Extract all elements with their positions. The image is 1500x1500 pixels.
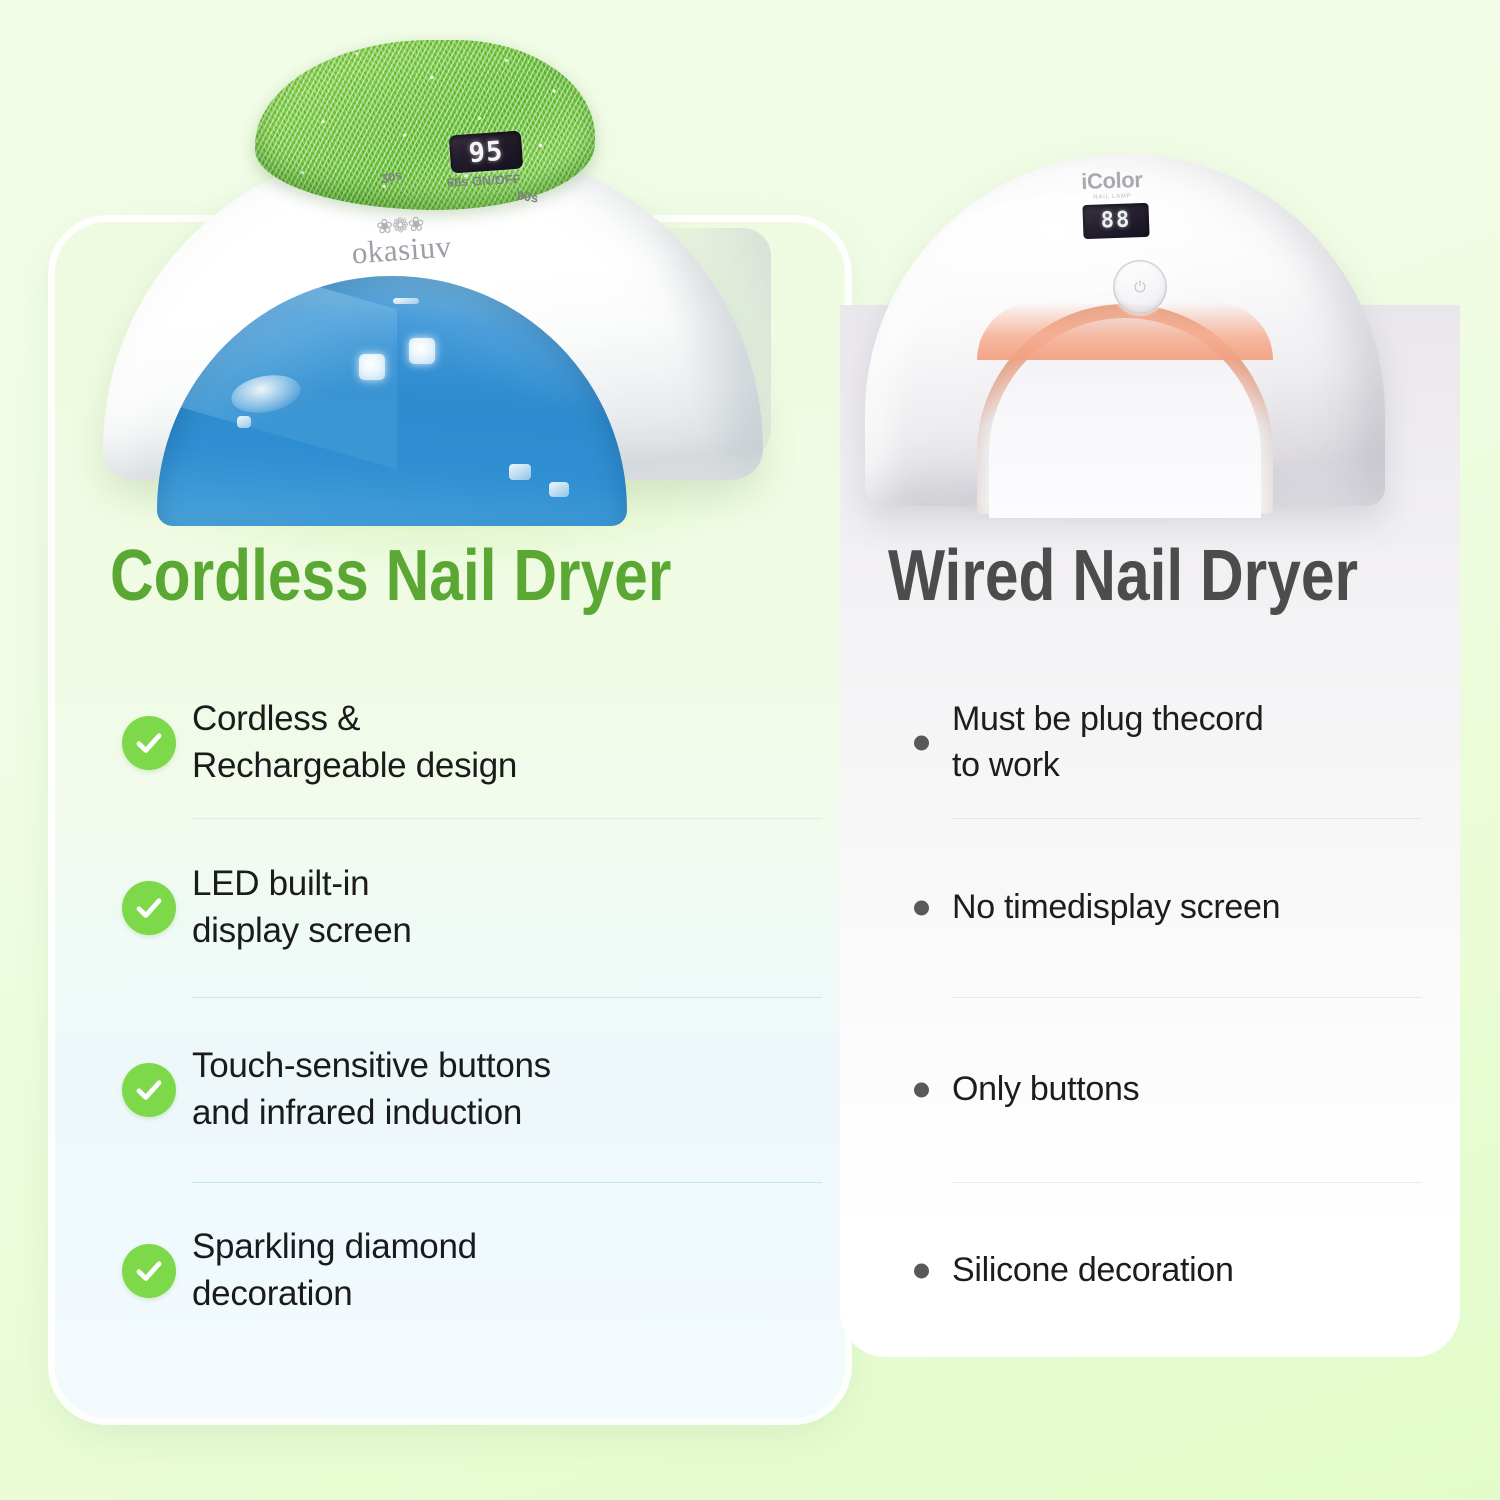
shell-side-shading	[631, 228, 771, 458]
feature-item: No timedisplay screen	[890, 819, 1450, 997]
feature-item: Silicone decoration	[890, 1183, 1450, 1359]
feature-text: Only buttons	[952, 1067, 1139, 1113]
check-circle-icon	[122, 1244, 176, 1298]
feature-text: Silicone decoration	[952, 1248, 1234, 1294]
dot-icon	[914, 736, 929, 751]
feature-item: Touch-sensitive buttons and infrared ind…	[110, 998, 810, 1182]
arch-silicone-lip	[977, 302, 1273, 360]
wired-feature-list: Must be plug thecord to work No timedisp…	[890, 668, 1450, 1359]
dot-icon	[914, 1264, 929, 1279]
logo-text: iColor	[1037, 167, 1188, 194]
chamber-glare	[393, 298, 419, 304]
cordless-feature-list: Cordless & Rechargeable design LED built…	[110, 668, 810, 1359]
power-icon: ⏻	[1134, 278, 1146, 295]
diamond-crystal-top	[255, 40, 595, 210]
feature-item: Sparkling diamond decoration	[110, 1183, 810, 1359]
uv-led	[509, 464, 531, 480]
feature-item: LED built-in display screen	[110, 819, 810, 997]
uv-led	[549, 482, 569, 497]
dot-icon	[914, 901, 929, 916]
feature-item: Only buttons	[890, 998, 1450, 1182]
wired-nail-dryer-image: iColor NAIL LAMP 88 ⏻	[855, 148, 1415, 528]
check-circle-icon	[122, 716, 176, 770]
check-circle-icon	[122, 881, 176, 935]
feature-text: No timedisplay screen	[952, 885, 1280, 931]
uv-chamber	[157, 276, 627, 526]
feature-text: Must be plug thecord to work	[952, 697, 1264, 788]
feature-item: Must be plug thecord to work	[890, 668, 1450, 818]
right-panel-title: Wired Nail Dryer	[888, 540, 1358, 612]
uv-led	[409, 338, 435, 364]
led-display-value: 88	[1100, 209, 1131, 232]
dot-icon	[914, 1083, 929, 1098]
chamber-glare	[237, 416, 251, 428]
uv-led	[359, 354, 385, 380]
cordless-nail-dryer-image: 95 30s 60s ON/OFF 90s ❀❁❀ okasiuv	[95, 18, 785, 530]
feature-text: Cordless & Rechargeable design	[192, 696, 517, 790]
feature-text: LED built-in display screen	[192, 861, 412, 955]
led-display: 95	[449, 131, 523, 174]
feature-text: Sparkling diamond decoration	[192, 1224, 477, 1318]
left-panel-title: Cordless Nail Dryer	[110, 540, 671, 612]
led-display-value: 95	[468, 137, 504, 166]
feature-text: Touch-sensitive buttons and infrared ind…	[192, 1043, 551, 1137]
check-circle-icon	[122, 1063, 176, 1117]
feature-item: Cordless & Rechargeable design	[110, 668, 810, 818]
brand-logo-icolor: iColor NAIL LAMP	[1037, 167, 1188, 202]
led-display: 88	[1082, 203, 1149, 239]
